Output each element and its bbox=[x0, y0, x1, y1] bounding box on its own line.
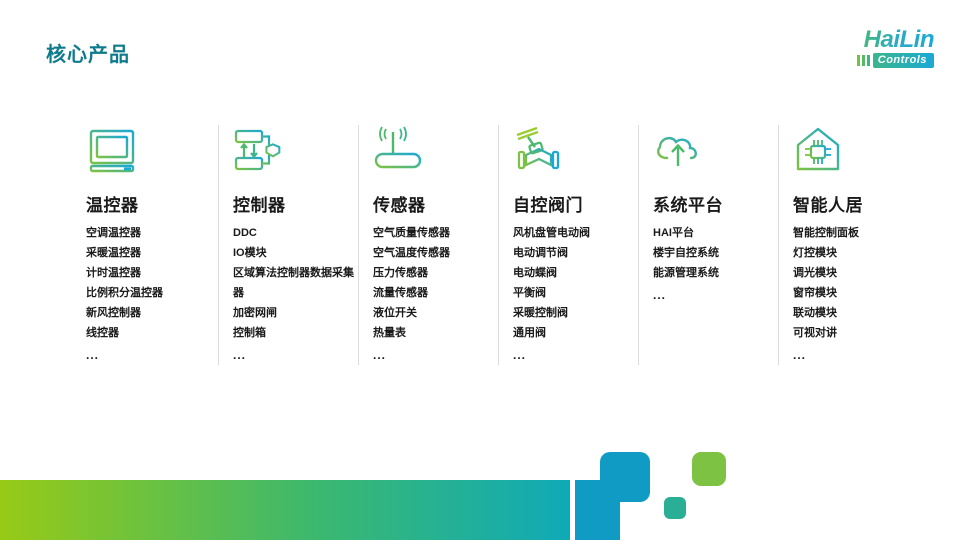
product-item: 电动调节阀 bbox=[513, 243, 634, 263]
product-column-valves: 自控阀门 风机盘管电动阀 电动调节阀 电动蝶阀 平衡阀 采暖控制阀 通用阀 ..… bbox=[498, 125, 638, 365]
product-item: 控制箱 bbox=[233, 323, 354, 343]
product-more-ellipsis: ... bbox=[513, 345, 634, 365]
product-item: 热量表 bbox=[373, 323, 494, 343]
product-item: 灯控模块 bbox=[793, 243, 914, 263]
smart-home-chip-icon bbox=[793, 125, 914, 181]
product-item: 采暖控制阀 bbox=[513, 303, 634, 323]
logo-subrow: Controls bbox=[812, 53, 934, 68]
product-item: 液位开关 bbox=[373, 303, 494, 323]
product-item: DDC bbox=[233, 223, 354, 243]
product-item: 比例积分温控器 bbox=[86, 283, 214, 303]
logo-wordmark: HaiLin bbox=[812, 28, 934, 52]
product-item: 平衡阀 bbox=[513, 283, 634, 303]
product-item: 流量传感器 bbox=[373, 283, 494, 303]
product-item: 可视对讲 bbox=[793, 323, 914, 343]
product-column-platforms: 系统平台 HAI平台 楼宇自控系统 能源管理系统 ... bbox=[638, 125, 778, 365]
product-item: 电动蝶阀 bbox=[513, 263, 634, 283]
cloud-upload-icon bbox=[653, 125, 774, 181]
column-heading: 控制器 bbox=[233, 191, 354, 216]
product-column-thermostats: 温控器 空调温控器 采暖温控器 计时温控器 比例积分温控器 新风控制器 线控器 … bbox=[78, 125, 218, 365]
product-column-smart-home: 智能人居 智能控制面板 灯控模块 调光模块 窗帘模块 联动模块 可视对讲 ... bbox=[778, 125, 918, 365]
product-more-ellipsis: ... bbox=[86, 345, 214, 365]
controller-icon bbox=[233, 125, 354, 181]
product-more-ellipsis: ... bbox=[373, 345, 494, 365]
brand-logo: HaiLin Controls bbox=[812, 28, 934, 68]
product-item: 空气温度传感器 bbox=[373, 243, 494, 263]
product-columns: 温控器 空调温控器 采暖温控器 计时温控器 比例积分温控器 新风控制器 线控器 … bbox=[78, 125, 918, 365]
product-more-ellipsis: ... bbox=[653, 285, 774, 305]
product-item: 空调温控器 bbox=[86, 223, 214, 243]
logo-subtext: Controls bbox=[873, 53, 934, 68]
product-column-sensors: 传感器 空气质量传感器 空气温度传感器 压力传感器 流量传感器 液位开关 热量表… bbox=[358, 125, 498, 365]
footer-decoration bbox=[0, 440, 960, 540]
column-heading: 智能人居 bbox=[793, 191, 914, 216]
product-item: 新风控制器 bbox=[86, 303, 214, 323]
column-heading: 系统平台 bbox=[653, 191, 774, 216]
sensor-antenna-icon bbox=[373, 125, 494, 181]
page-title: 核心产品 bbox=[46, 38, 130, 67]
product-item: 线控器 bbox=[86, 323, 214, 343]
product-column-controllers: 控制器 DDC IO模块 区域算法控制器数据采集器 加密网闸 控制箱 ... bbox=[218, 125, 358, 365]
column-heading: 温控器 bbox=[86, 191, 214, 216]
product-item: HAI平台 bbox=[653, 223, 774, 243]
product-item: 风机盘管电动阀 bbox=[513, 223, 634, 243]
product-item: 联动模块 bbox=[793, 303, 914, 323]
product-item: 空气质量传感器 bbox=[373, 223, 494, 243]
logo-bars-icon bbox=[857, 55, 870, 66]
product-item: 楼宇自控系统 bbox=[653, 243, 774, 263]
product-item: 采暖温控器 bbox=[86, 243, 214, 263]
valve-icon bbox=[513, 125, 634, 181]
product-item: 压力传感器 bbox=[373, 263, 494, 283]
product-more-ellipsis: ... bbox=[793, 345, 914, 365]
product-item: 智能控制面板 bbox=[793, 223, 914, 243]
product-more-ellipsis: ... bbox=[233, 345, 354, 365]
product-item: 调光模块 bbox=[793, 263, 914, 283]
column-heading: 传感器 bbox=[373, 191, 494, 216]
product-item: 通用阀 bbox=[513, 323, 634, 343]
product-item: 能源管理系统 bbox=[653, 263, 774, 283]
product-item: 窗帘模块 bbox=[793, 283, 914, 303]
product-item: 区域算法控制器数据采集器 bbox=[233, 263, 354, 303]
monitor-icon bbox=[86, 125, 214, 181]
product-item: 计时温控器 bbox=[86, 263, 214, 283]
column-heading: 自控阀门 bbox=[513, 191, 634, 216]
product-item: 加密网闸 bbox=[233, 303, 354, 323]
product-item: IO模块 bbox=[233, 243, 354, 263]
